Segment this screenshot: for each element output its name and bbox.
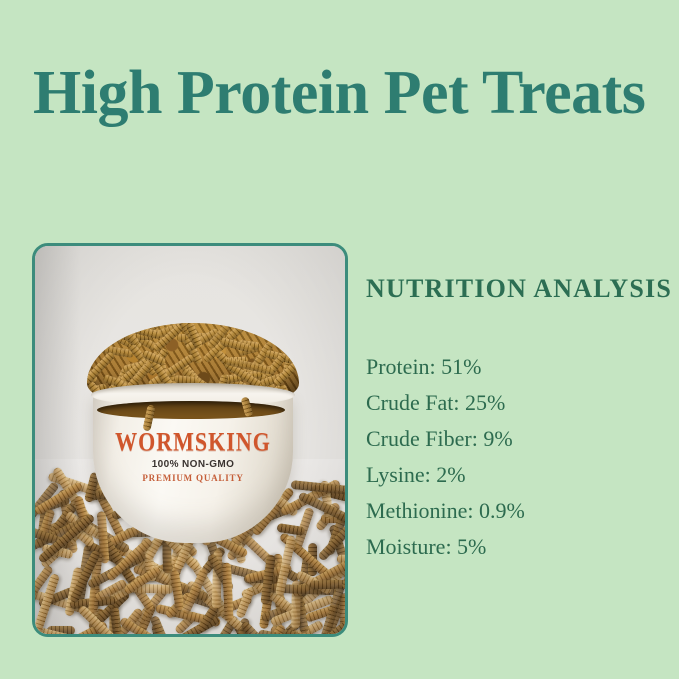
nutrition-item: Moisture: 5% bbox=[366, 529, 666, 565]
bowl-tagline: 100% NON-GMO bbox=[93, 460, 293, 470]
nutrition-item: Protein: 51% bbox=[366, 349, 666, 385]
bowl-subtagline: PREMIUM QUALITY bbox=[93, 474, 293, 483]
product-photo-card: WORMSKING 100% NON-GMO PREMIUM QUALITY bbox=[32, 243, 348, 637]
nutrition-analysis-panel: NUTRITION ANALYSIS Protein: 51%Crude Fat… bbox=[366, 276, 666, 565]
nutrition-item: Lysine: 2% bbox=[366, 457, 666, 493]
nutrition-heading: NUTRITION ANALYSIS bbox=[366, 276, 666, 302]
nutrition-list: Protein: 51%Crude Fat: 25%Crude Fiber: 9… bbox=[366, 349, 666, 565]
mealworm-bowl: WORMSKING 100% NON-GMO PREMIUM QUALITY bbox=[93, 367, 293, 543]
nutrition-item: Crude Fiber: 9% bbox=[366, 421, 666, 457]
pet-treats-infographic: High Protein Pet Treats WORMSKING 100% N… bbox=[0, 0, 679, 679]
bowl-brand-name: WORMSKING bbox=[93, 429, 293, 455]
mealworm bbox=[310, 580, 345, 590]
nutrition-item: Crude Fat: 25% bbox=[366, 385, 666, 421]
mealworm bbox=[220, 337, 253, 353]
nutrition-item: Methionine: 0.9% bbox=[366, 493, 666, 529]
bowl-logo: WORMSKING 100% NON-GMO PREMIUM QUALITY bbox=[93, 431, 293, 483]
bowl-rim bbox=[91, 383, 295, 407]
bowl-cavity bbox=[97, 401, 285, 419]
product-photo: WORMSKING 100% NON-GMO PREMIUM QUALITY bbox=[35, 246, 345, 634]
page-title: High Protein Pet Treats bbox=[33, 62, 653, 124]
